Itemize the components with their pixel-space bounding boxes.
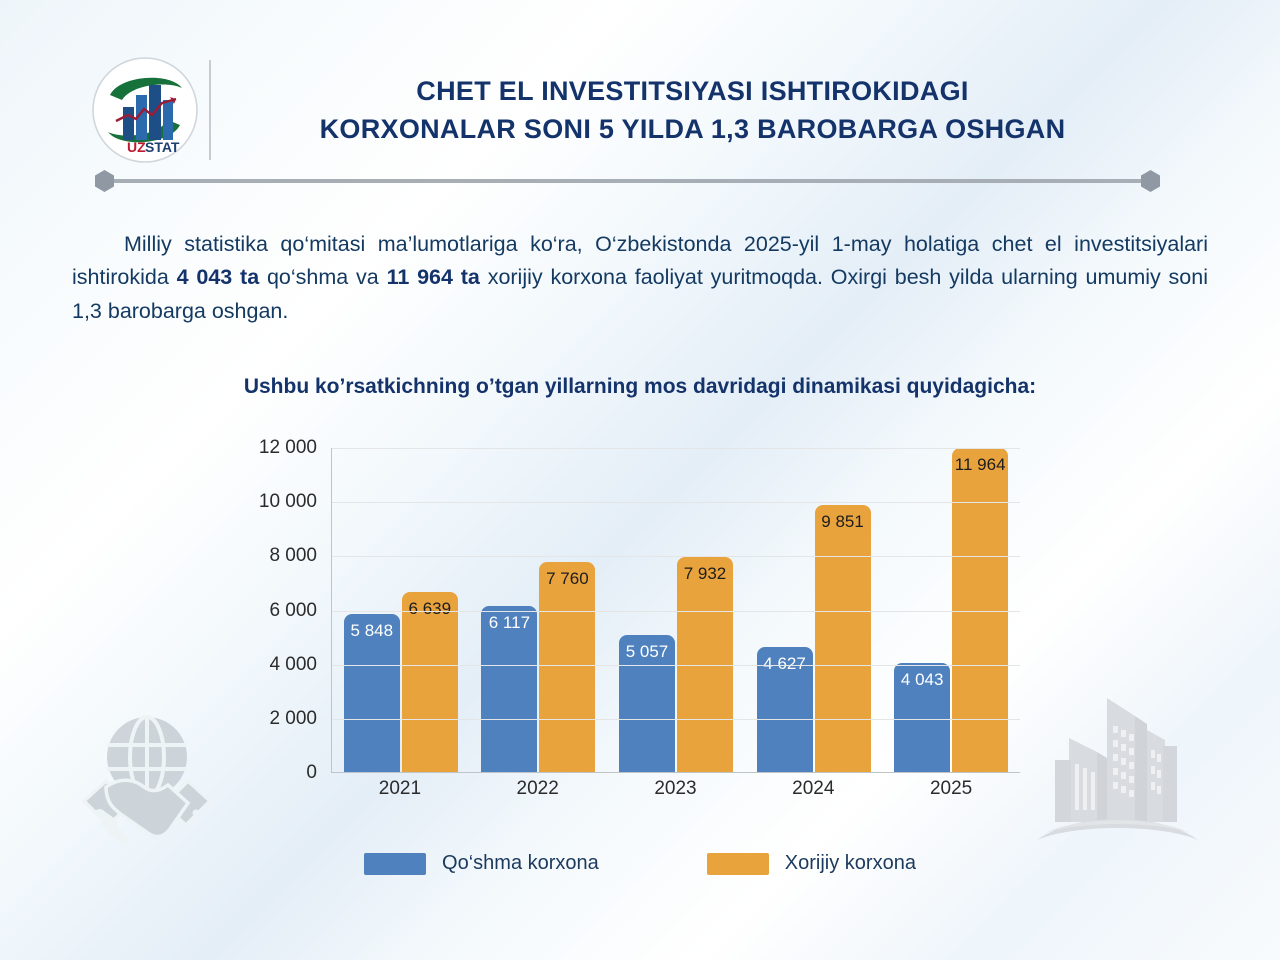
legend-item-foreign[interactable]: Xorijiy korxona — [707, 852, 916, 875]
legend-swatch — [707, 853, 769, 875]
y-axis: 02 0004 0006 0008 00010 00012 000 — [245, 448, 327, 773]
y-axis-tick-label: 12 000 — [259, 437, 317, 459]
uzstat-logo-icon: UZ STAT — [90, 55, 200, 165]
lead-paragraph: Milliy statistika qo‘mitasi ma’lumotlari… — [72, 228, 1208, 328]
legend-swatch — [364, 853, 426, 875]
section-divider — [95, 170, 1160, 192]
y-axis-tick-label: 2 000 — [269, 708, 317, 730]
y-axis-tick-label: 0 — [306, 762, 317, 784]
logo-text-uz: UZ — [127, 139, 146, 155]
x-axis-tick-label: 2024 — [755, 778, 871, 800]
title-line-2: KORXONALAR SONI 5 YILDA 1,3 BAROBARGA OS… — [225, 110, 1160, 148]
gridline — [332, 556, 1020, 557]
legend-item-joint[interactable]: Qo‘shma korxona — [364, 852, 599, 875]
lead-text-2: qo‘shma va — [259, 265, 386, 289]
bar-2024-foreign[interactable]: 9 851 — [815, 505, 871, 772]
bar-2022-foreign[interactable]: 7 760 — [539, 562, 595, 772]
title-line-1: CHET EL INVESTITSIYASI ISHTIROKIDAGI — [225, 72, 1160, 110]
city-buildings-icon — [1035, 690, 1200, 855]
bar-value-label: 5 057 — [619, 642, 675, 662]
plot-area: 5 8486 6396 1177 7605 0577 9324 6279 851… — [331, 448, 1020, 773]
y-axis-tick-label: 6 000 — [269, 600, 317, 622]
y-axis-tick-label: 4 000 — [269, 654, 317, 676]
lead-highlight-joint: 4 043 ta — [177, 265, 260, 289]
x-axis-tick-label: 2025 — [893, 778, 1009, 800]
bar-2021-foreign[interactable]: 6 639 — [402, 592, 458, 772]
header: UZ STAT CHET EL INVESTITSIYASI ISHTIROKI… — [0, 55, 1280, 165]
lead-highlight-foreign: 11 964 ta — [387, 265, 480, 289]
y-axis-tick-label: 10 000 — [259, 491, 317, 513]
bar-2021-joint[interactable]: 5 848 — [344, 614, 400, 772]
bar-2025-joint[interactable]: 4 043 — [894, 663, 950, 772]
x-axis-tick-label: 2021 — [342, 778, 458, 800]
bar-value-label: 7 932 — [677, 564, 733, 584]
divider-line — [114, 179, 1141, 183]
x-axis-tick-label: 2022 — [480, 778, 596, 800]
gridline — [332, 611, 1020, 612]
header-divider — [209, 60, 211, 160]
bar-2022-joint[interactable]: 6 117 — [481, 606, 537, 772]
bar-value-label: 7 760 — [539, 569, 595, 589]
bar-value-label: 9 851 — [815, 512, 871, 532]
y-axis-tick-label: 8 000 — [269, 545, 317, 567]
hexagon-cap-right-icon — [1141, 170, 1160, 192]
hexagon-cap-left-icon — [95, 170, 114, 192]
bar-value-label: 5 848 — [344, 621, 400, 641]
gridline — [332, 665, 1020, 666]
chart-subtitle: Ushbu ko’rsatkichning o’tgan yillarning … — [0, 375, 1280, 399]
bar-value-label: 6 639 — [402, 599, 458, 619]
gridline — [332, 502, 1020, 503]
uzstat-logo: UZ STAT — [85, 55, 205, 165]
bar-chart: 02 0004 0006 0008 00010 00012 000 5 8486… — [245, 448, 1020, 788]
bar-group-2021: 5 8486 639 — [344, 592, 458, 772]
x-axis: 20212022202320242025 — [331, 778, 1020, 810]
legend-label: Xorijiy korxona — [785, 852, 916, 875]
bar-value-label: 6 117 — [481, 613, 537, 633]
bar-value-label: 4 043 — [894, 670, 950, 690]
bar-value-label: 11 964 — [952, 455, 1008, 475]
logo-text-stat: STAT — [145, 139, 180, 155]
legend-label: Qo‘shma korxona — [442, 852, 599, 875]
bar-group-2024: 4 6279 851 — [757, 505, 871, 772]
bar-group-2022: 6 1177 760 — [481, 562, 595, 772]
x-axis-tick-label: 2023 — [617, 778, 733, 800]
bar-2023-joint[interactable]: 5 057 — [619, 635, 675, 772]
gridline — [332, 719, 1020, 720]
gridline — [332, 448, 1020, 449]
globe-handshake-icon — [72, 705, 222, 860]
page-title: CHET EL INVESTITSIYASI ISHTIROKIDAGI KOR… — [225, 72, 1280, 149]
